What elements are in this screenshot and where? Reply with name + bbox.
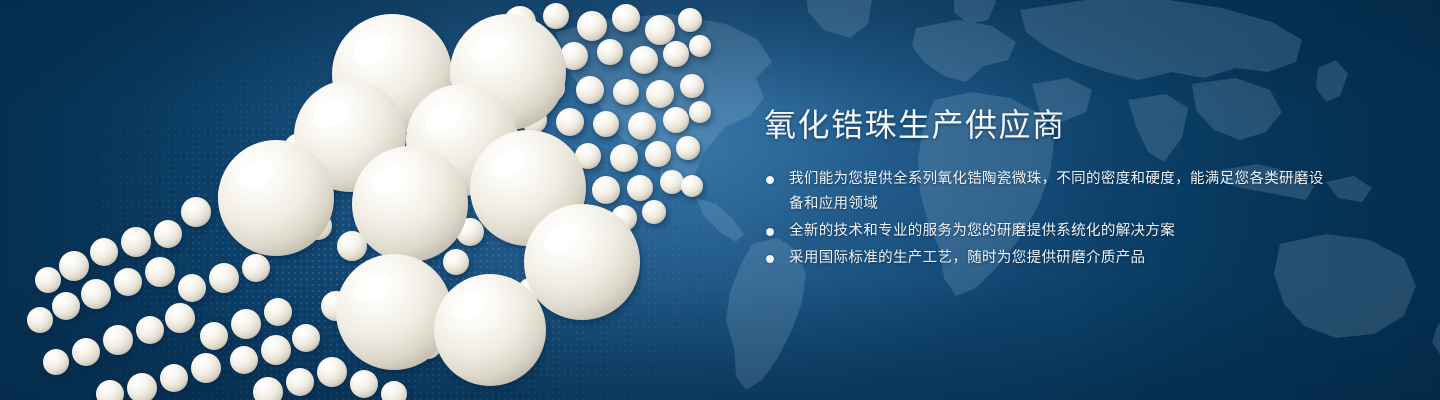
banner-headline: 氧化锆珠生产供应商 xyxy=(764,104,1324,146)
list-item: 采用国际标准的生产工艺，随时为您提供研磨介质产品 xyxy=(764,246,1324,271)
bullet-text: 我们能为您提供全系列氧化锆陶瓷微珠，不同的密度和硬度，能满足您各类研磨设备和应用… xyxy=(789,167,1324,217)
bullet-text: 全新的技术和专业的服务为您的研磨提供系统化的解决方案 xyxy=(789,219,1324,244)
banner-edge-shade-left xyxy=(0,0,260,400)
bullet-text: 采用国际标准的生产工艺，随时为您提供研磨介质产品 xyxy=(789,246,1324,271)
list-item: 全新的技术和专业的服务为您的研磨提供系统化的解决方案 xyxy=(764,219,1324,244)
list-item: 我们能为您提供全系列氧化锆陶瓷微珠，不同的密度和硬度，能满足您各类研磨设备和应用… xyxy=(764,167,1324,217)
banner-benefits-list: 我们能为您提供全系列氧化锆陶瓷微珠，不同的密度和硬度，能满足您各类研磨设备和应用… xyxy=(764,167,1324,271)
bullet-dot-icon xyxy=(766,255,774,263)
banner-copy-block: 氧化锆珠生产供应商 我们能为您提供全系列氧化锆陶瓷微珠，不同的密度和硬度，能满足… xyxy=(764,104,1324,273)
bullet-dot-icon xyxy=(766,176,774,184)
bullet-dot-icon xyxy=(766,228,774,236)
product-hero-banner: svg circle { fill: url(#bead); } 氧化锆珠生产供… xyxy=(0,0,1440,400)
